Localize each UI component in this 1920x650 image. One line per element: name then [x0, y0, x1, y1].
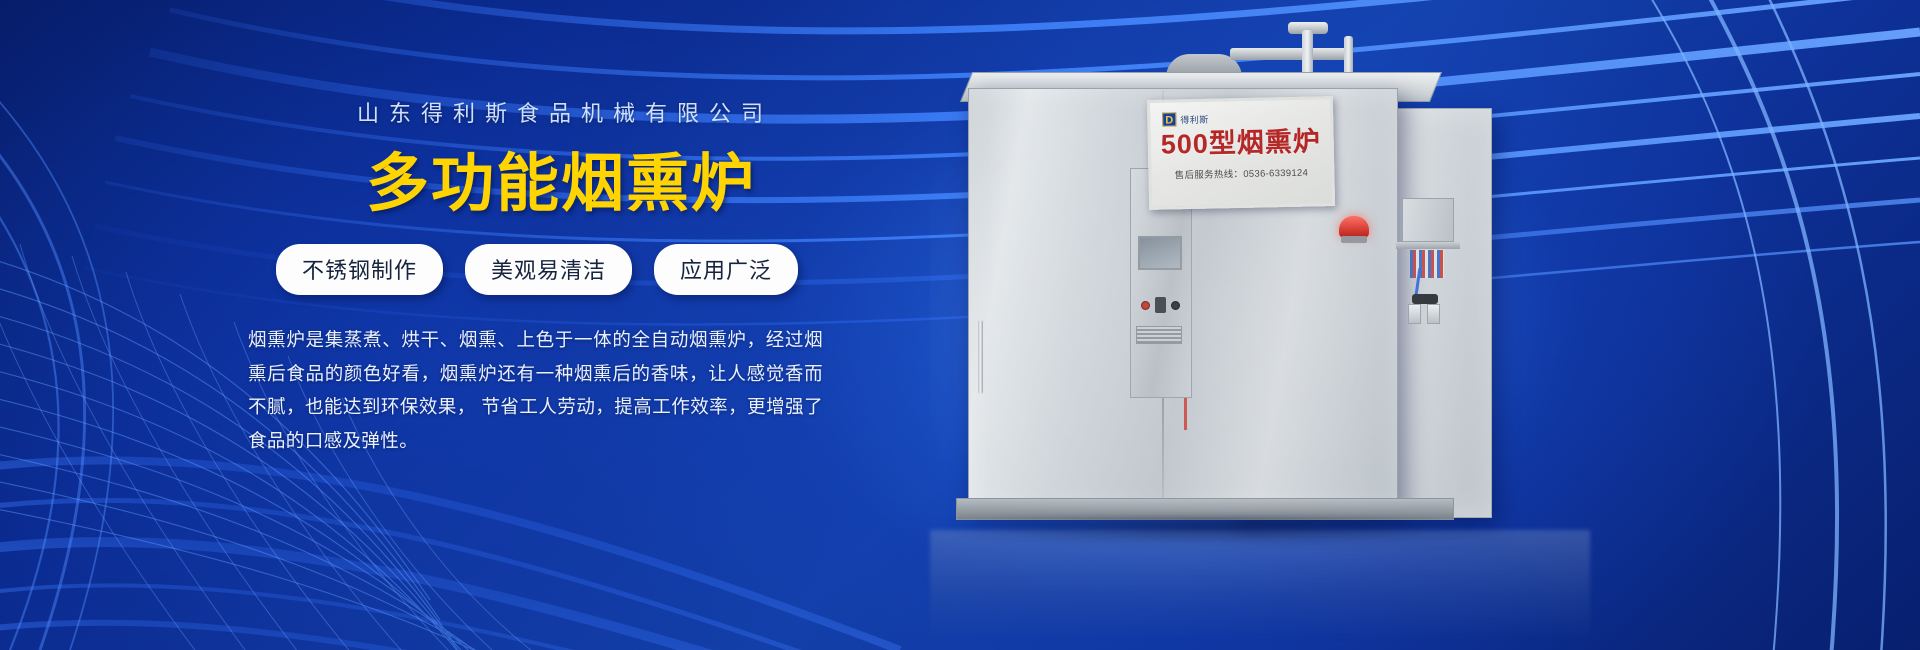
brand-name: 得利斯: [1180, 112, 1209, 126]
page-title: 多功能烟熏炉: [248, 150, 848, 218]
company-name: 山东得利斯食品机械有限公司: [248, 96, 848, 128]
brand-logo-icon: D: [1162, 112, 1176, 126]
colored-wires: [1410, 250, 1444, 278]
control-display-screen: [1138, 236, 1182, 270]
nameplate-model: 500型烟熏炉: [1159, 127, 1324, 160]
selector-knob[interactable]: [1171, 301, 1180, 310]
product-photo-smoke-oven: D 得利斯 500型烟熏炉 售后服务热线：0536-6339124: [930, 20, 1590, 640]
cabinet-shadow: [950, 518, 1470, 544]
regulator-head: [1412, 294, 1438, 304]
machine-nameplate: D 得利斯 500型烟熏炉 售后服务热线：0536-6339124: [1147, 96, 1335, 210]
feature-pill-stainless-steel[interactable]: 不锈钢制作: [276, 244, 443, 295]
feature-pill-wide-application[interactable]: 应用广泛: [654, 244, 798, 295]
cabinet-base-plinth: [956, 498, 1454, 520]
control-knob-group: [1136, 292, 1184, 318]
product-banner: 山东得利斯食品机械有限公司 多功能烟熏炉 不锈钢制作 美观易清洁 应用广泛 烟熏…: [0, 0, 1920, 650]
filter-bowl-right: [1408, 304, 1421, 324]
toggle-switch[interactable]: [1155, 297, 1166, 313]
utility-box-shelf: [1396, 242, 1460, 249]
wall-utility-box: [1402, 198, 1454, 242]
top-pipe-vertical: [1302, 30, 1313, 76]
door-handle[interactable]: [978, 320, 983, 394]
feature-pill-list: 不锈钢制作 美观易清洁 应用广泛: [248, 244, 848, 295]
top-pipe-horizontal: [1230, 48, 1350, 60]
feature-pill-easy-clean[interactable]: 美观易清洁: [465, 244, 632, 295]
nameplate-brand: D 得利斯: [1162, 107, 1322, 128]
vent-grille: [1136, 326, 1182, 344]
filter-bowl-left: [1427, 304, 1440, 324]
emergency-stop-knob[interactable]: [1141, 301, 1150, 310]
nameplate-hotline: 售后服务热线：0536-6339124: [1159, 164, 1323, 181]
warning-beacon-light: [1339, 216, 1369, 238]
banner-text-block: 山东得利斯食品机械有限公司 多功能烟熏炉 不锈钢制作 美观易清洁 应用广泛 烟熏…: [248, 96, 848, 458]
product-description: 烟熏炉是集蒸煮、烘干、烟熏、上色于一体的全自动烟熏炉，经过烟熏后食品的颜色好看，…: [248, 323, 823, 458]
floor-reflection: [930, 530, 1590, 640]
beacon-base: [1341, 236, 1367, 243]
air-filter-regulator: [1408, 294, 1446, 324]
